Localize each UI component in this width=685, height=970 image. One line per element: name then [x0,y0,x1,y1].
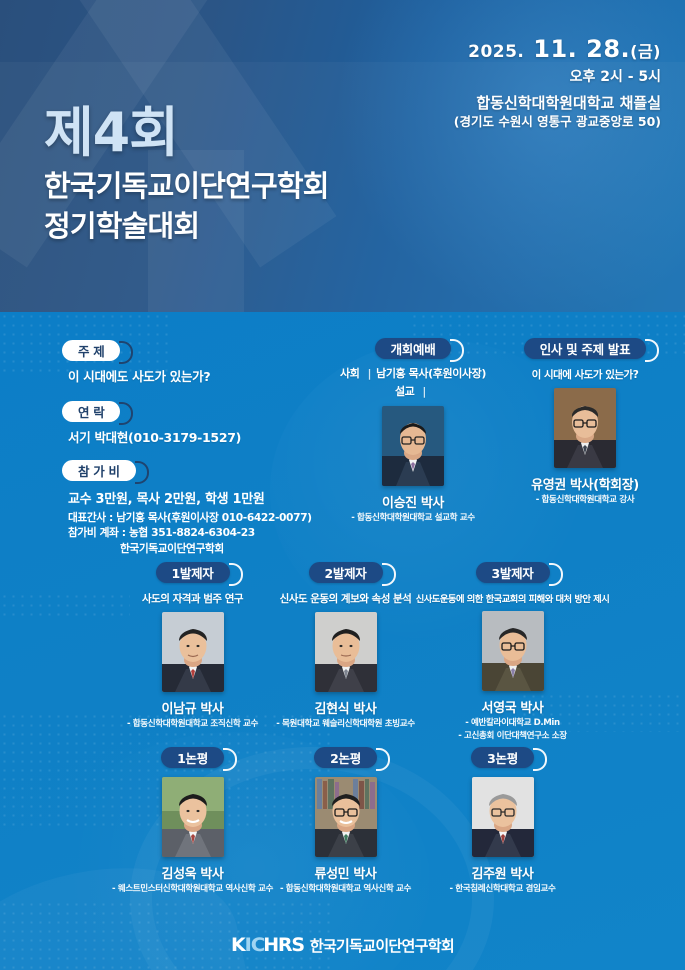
event-day-of-week: (금) [630,42,661,61]
logo-acronym: KICHRS [231,934,304,956]
contact-text: 서기 박대현(010-3179-1527) [68,429,352,447]
discussant-affiliation-2: - 합동신학대학원대학교 역사신학 교수 [258,884,433,896]
keynote-badge: 인사 및 주제 발표 [524,338,647,359]
event-info-column: 주 제 이 시대에도 사도가 있는가? 연 락 서기 박대현(010-3179-… [62,340,352,556]
presenter-talk-title-2: 신사도 운동의 계보와 속성 분석 [258,591,433,606]
fee-main-text: 교수 3만원, 목사 2만원, 학생 1만원 [68,488,352,507]
presenter-photo-1 [162,612,224,692]
portrait-illustration [162,777,224,857]
presenter-badge-1: 1발제자 [156,562,230,583]
presenter-name-2: 김현식 박사 [258,698,433,717]
discussant-card-3: 3논평 김주원 박사 - 한국침례신학대학교 겸임교수 [415,747,590,896]
poster-title-block: 제4회 한국기독교이단연구학회 정기학술대회 [44,106,329,246]
presenter-affiliation-3b: - 고신총회 이단대책연구소 소장 [415,731,610,743]
event-date-line: 2025. 11. 28.(금) [454,34,661,64]
portrait-illustration [315,777,377,857]
worship-moderator-line: 사회|남기홍 목사(후원이사장) [338,367,488,382]
portrait-illustration [472,777,534,857]
portrait-illustration [315,612,377,692]
event-address: (경기도 수원시 영통구 광교중앙로 50) [454,114,661,130]
discussant-photo-3 [472,777,534,857]
discussant-photo-1 [162,777,224,857]
worship-badge: 개회예배 [375,338,452,359]
portrait-illustration [554,388,616,468]
event-day: 28. [586,35,630,63]
discussant-badge-1: 1논평 [161,747,224,768]
presenter-badge-3: 3발제자 [476,562,550,583]
poster-footer: KICHRS 한국기독교이단연구학회 [0,934,685,956]
discussant-card-1: 1논평 김성욱 박사 - 웨스트민스터신학대학원 [105,747,280,896]
fee-detail-text: 대표간사 : 남기홍 목사(후원이사장 010-6422-0077) 참가비 계… [68,510,352,556]
organization-name: 한국기독교이단연구학회 [310,935,454,956]
conference-poster: 2025. 11. 28.(금) 오후 2시 - 5시 합동신학대학원대학교 채… [0,0,685,970]
presenter-card-3: 3발제자 신사도운동에 의한 한국교회의 피해와 대처 방안 제시 서 [415,562,610,742]
presenter-name-1: 이남규 박사 [105,698,280,717]
poster-body: 주 제 이 시대에도 사도가 있는가? 연 락 서기 박대현(010-3179-… [0,312,685,970]
presenter-affiliation-3: - 예반칼라이대학교 D.Min [415,718,610,730]
presenter-affiliation-1: - 합동신학대학원대학교 조직신학 교수 [105,719,280,731]
fee-secretary: 대표간사 : 남기홍 목사(후원이사장 010-6422-0077) [68,510,352,525]
portrait-illustration [482,611,544,691]
discussant-affiliation-1: - 웨스트민스터신학대학원대학교 역사신학 교수 [105,884,280,896]
title-line-2: 정기학술대회 [44,206,329,246]
event-datetime-venue: 2025. 11. 28.(금) 오후 2시 - 5시 합동신학대학원대학교 채… [454,34,661,130]
presenter-talk-title-1: 사도의 자격과 범주 연구 [105,591,280,606]
presenter-photo-2 [315,612,377,692]
event-month: 11. [533,35,577,63]
discussant-affiliation-3: - 한국침례신학대학교 겸임교수 [415,884,590,896]
discussant-badge-2: 2논평 [314,747,377,768]
edition-number: 제4회 [44,106,329,160]
organization-logo: KICHRS 한국기독교이단연구학회 [231,934,454,956]
keynote-speaker-photo [554,388,616,468]
discussant-card-2: 2논평 [258,747,433,896]
presenter-card-2: 2발제자 신사도 운동의 계보와 속성 분석 김현식 박사 [258,562,433,731]
event-venue: 합동신학대학원대학교 채플실 [454,94,661,113]
topic-badge: 주 제 [62,340,120,361]
keynote-card: 인사 및 주제 발표 이 시대에 사도가 있는가? 유영권 박사(학회 [505,338,665,507]
discussant-name-1: 김성욱 박사 [105,863,280,882]
topic-text: 이 시대에도 사도가 있는가? [68,368,352,386]
worship-preacher-photo [382,406,444,486]
discussant-name-3: 김주원 박사 [415,863,590,882]
portrait-illustration [162,612,224,692]
keynote-speaker-name: 유영권 박사(학회장) [505,474,665,493]
event-year: 2025. [468,42,524,62]
presenter-photo-3 [482,611,544,691]
fee-account: 참가비 계좌 : 농협 351-8824-6304-23 [68,525,352,540]
worship-preacher-line: 설교| [338,385,488,400]
poster-header: 2025. 11. 28.(금) 오후 2시 - 5시 합동신학대학원대학교 채… [0,0,685,312]
presenter-talk-title-3: 신사도운동에 의한 한국교회의 피해와 대처 방안 제시 [415,591,610,605]
discussant-badge-3: 3논평 [471,747,534,768]
presenter-card-1: 1발제자 사도의 자격과 범주 연구 이남규 박사 - 합 [105,562,280,731]
worship-preacher-affiliation: - 합동신학대학원대학교 설교학 교수 [338,513,488,525]
discussant-name-2: 류성민 박사 [258,863,433,882]
keynote-speaker-affiliation: - 합동신학대학원대학교 강사 [505,495,665,507]
presenter-affiliation-2: - 목원대학교 웨슬리신학대학원 초빙교수 [258,719,433,731]
worship-preacher-name: 이승진 박사 [338,492,488,511]
fee-account-holder: 한국기독교이단연구학회 [68,541,352,556]
contact-badge: 연 락 [62,401,120,422]
opening-worship-card: 개회예배 사회|남기홍 목사(후원이사장) 설교| [338,338,488,524]
keynote-talk-title: 이 시대에 사도가 있는가? [505,367,665,382]
topic-badge-row: 주 제 [62,340,352,361]
fee-badge: 참 가 비 [62,460,136,481]
title-line-1: 한국기독교이단연구학회 [44,166,329,206]
portrait-illustration [382,406,444,486]
presenter-badge-2: 2발제자 [309,562,383,583]
event-time: 오후 2시 - 5시 [454,69,661,87]
contact-badge-row: 연 락 [62,401,352,422]
discussant-photo-2 [315,777,377,857]
presenter-name-3: 서영국 박사 [415,697,610,716]
fee-badge-row: 참 가 비 [62,460,352,481]
